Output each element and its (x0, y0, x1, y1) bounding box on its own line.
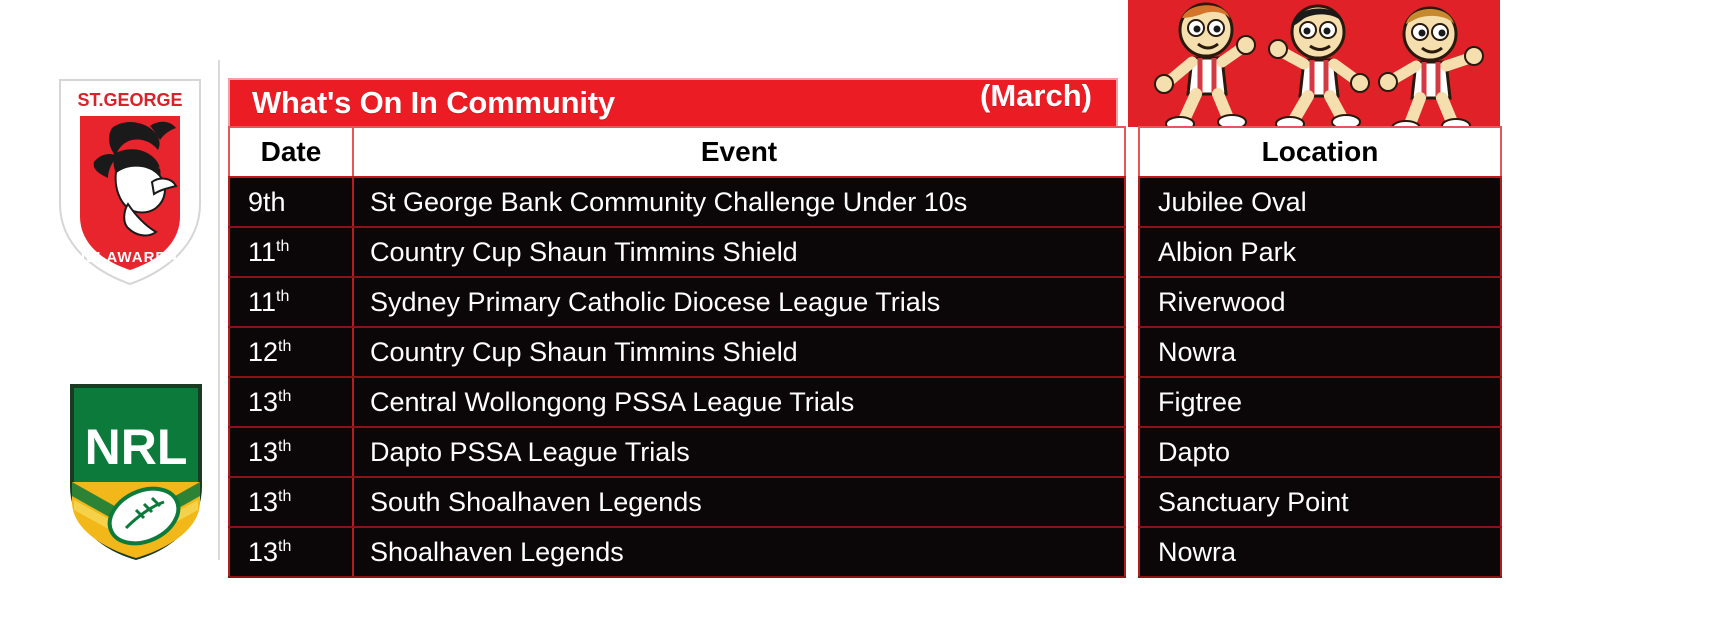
logo-rail: ST.GEORGE ILLAWARRA NRL (0, 0, 228, 630)
community-events-panel: What's On In Community (228, 78, 1500, 126)
table-row: 11thSydney Primary Catholic Diocese Leag… (229, 277, 1501, 327)
cell-event: Dapto PSSA League Trials (353, 427, 1125, 477)
cell-location: Dapto (1139, 427, 1501, 477)
cell-gap (1125, 227, 1139, 277)
cell-location: Jubilee Oval (1139, 177, 1501, 227)
column-gap (1125, 127, 1139, 177)
column-header-location: Location (1139, 127, 1501, 177)
cell-gap (1125, 377, 1139, 427)
table-row: 13thSouth Shoalhaven LegendsSanctuary Po… (229, 477, 1501, 527)
table-row: 9thSt George Bank Community Challenge Un… (229, 177, 1501, 227)
cell-event: South Shoalhaven Legends (353, 477, 1125, 527)
cell-location: Nowra (1139, 327, 1501, 377)
page-title: What's On In Community (252, 85, 615, 121)
table-row: 11thCountry Cup Shaun Timmins ShieldAlbi… (229, 227, 1501, 277)
table-row: 13thDapto PSSA League TrialsDapto (229, 427, 1501, 477)
cell-date: 13th (229, 377, 353, 427)
cell-gap (1125, 527, 1139, 577)
table-header-row: Date Event Location (229, 127, 1501, 177)
cell-event: Country Cup Shaun Timmins Shield (353, 327, 1125, 377)
nrl-shield-icon: NRL (58, 378, 214, 564)
club-top-text: ST.GEORGE (77, 90, 182, 110)
cell-gap (1125, 177, 1139, 227)
cell-date: 13th (229, 427, 353, 477)
nrl-wordmark: NRL (85, 419, 188, 475)
table-row: 13thShoalhaven LegendsNowra (229, 527, 1501, 577)
cell-date: 11th (229, 227, 353, 277)
cell-date: 13th (229, 477, 353, 527)
sheet-edge-divider (218, 60, 220, 560)
cell-location: Riverwood (1139, 277, 1501, 327)
cell-date: 12th (229, 327, 353, 377)
cell-gap (1125, 477, 1139, 527)
cell-location: Sanctuary Point (1139, 477, 1501, 527)
column-header-event: Event (353, 127, 1125, 177)
cell-date: 13th (229, 527, 353, 577)
st-george-illawarra-dragons-logo: ST.GEORGE ILLAWARRA (54, 76, 206, 288)
cell-event: Sydney Primary Catholic Diocese League T… (353, 277, 1125, 327)
month-label: (March) (980, 78, 1092, 114)
cell-location: Nowra (1139, 527, 1501, 577)
table-row: 13thCentral Wollongong PSSA League Trial… (229, 377, 1501, 427)
cell-gap (1125, 277, 1139, 327)
cell-location: Figtree (1139, 377, 1501, 427)
events-table: Date Event Location 9thSt George Bank Co… (228, 126, 1502, 578)
cell-event: Country Cup Shaun Timmins Shield (353, 227, 1125, 277)
cell-date: 11th (229, 277, 353, 327)
cell-date: 9th (229, 177, 353, 227)
events-table-body: 9thSt George Bank Community Challenge Un… (229, 177, 1501, 577)
column-header-date: Date (229, 127, 353, 177)
cell-event: Central Wollongong PSSA League Trials (353, 377, 1125, 427)
table-row: 12thCountry Cup Shaun Timmins ShieldNowr… (229, 327, 1501, 377)
dragon-shield-icon: ST.GEORGE ILLAWARRA (54, 76, 206, 288)
cell-event: St George Bank Community Challenge Under… (353, 177, 1125, 227)
cell-location: Albion Park (1139, 227, 1501, 277)
cell-gap (1125, 327, 1139, 377)
club-bottom-text: ILLAWARRA (81, 249, 179, 266)
cell-gap (1125, 427, 1139, 477)
cell-event: Shoalhaven Legends (353, 527, 1125, 577)
nrl-logo: NRL (58, 378, 214, 564)
